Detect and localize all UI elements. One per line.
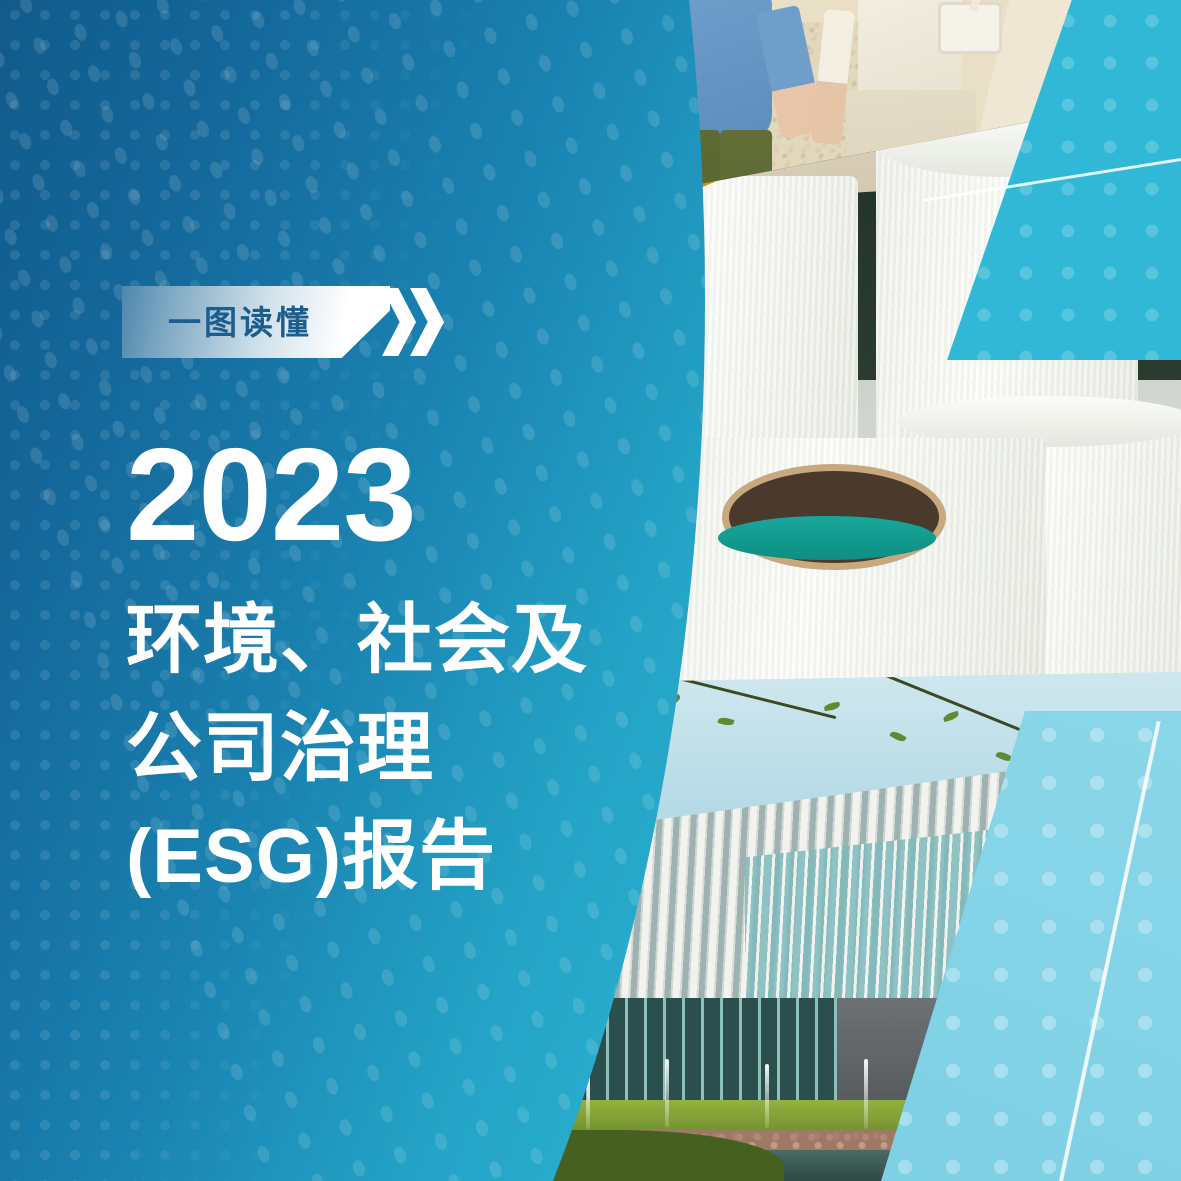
- badge-label: 一图读懂: [168, 306, 312, 339]
- title-line-1: 环境、社会及: [126, 587, 686, 695]
- esg-report-poster: 一图读懂 2023 环境、社会及 公司治理 (ESG)报告: [0, 0, 1181, 1181]
- headline-block: 2023 环境、社会及 公司治理 (ESG)报告: [126, 432, 686, 910]
- badge-banner: 一图读懂: [122, 286, 390, 358]
- report-title: 环境、社会及 公司治理 (ESG)报告: [126, 587, 686, 911]
- title-line-2: 公司治理: [126, 695, 686, 803]
- bobbin-teal-tape: [718, 516, 936, 560]
- fountain-jet: [665, 1059, 669, 1127]
- report-year: 2023: [126, 432, 686, 559]
- fountain-jet: [765, 1064, 769, 1128]
- title-line-3: (ESG)报告: [126, 803, 686, 911]
- fountain-jet: [864, 1059, 868, 1129]
